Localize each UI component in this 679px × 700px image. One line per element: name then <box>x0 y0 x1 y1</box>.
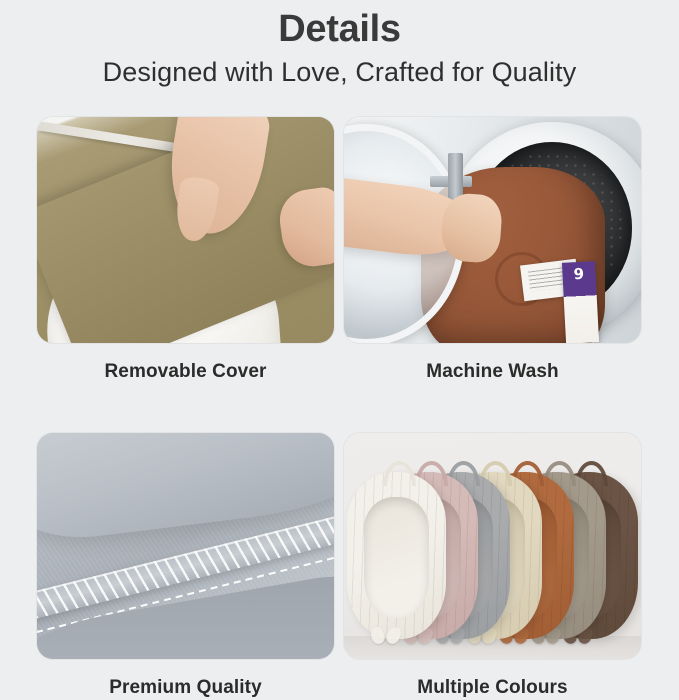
feature-label-premium-quality: Premium Quality <box>37 676 334 700</box>
feature-grid: Removable Cover 9 <box>37 117 641 700</box>
feature-label-multiple-colours: Multiple Colours <box>344 676 641 700</box>
swatch-tie-bow <box>371 624 401 651</box>
page-subtitle: Designed with Love, Crafted for Quality <box>0 54 679 90</box>
feature-card-removable-cover[interactable]: Removable Cover <box>37 117 334 384</box>
colour-swatch-row <box>347 453 638 643</box>
brand-tag: 9 <box>562 261 599 343</box>
feature-label-machine-wash: Machine Wash <box>344 360 641 384</box>
feature-row-2: Premium Quality Multiple Colours <box>37 433 641 700</box>
swatch-carry-handle <box>383 461 417 487</box>
page-header: Details Designed with Love, Crafted for … <box>0 0 679 90</box>
machine-wash-photo: 9 <box>344 117 641 343</box>
feature-card-multiple-colours[interactable]: Multiple Colours <box>344 433 641 700</box>
swatch-inner-mattress <box>364 497 429 617</box>
multiple-colours-photo <box>344 433 641 659</box>
page-title: Details <box>0 6 679 52</box>
brand-tag-glyph: 9 <box>562 264 596 284</box>
removable-cover-photo <box>37 117 334 343</box>
colour-swatch-ivory-white <box>347 472 446 639</box>
feature-label-removable-cover: Removable Cover <box>37 360 334 384</box>
hand-icon <box>440 192 504 264</box>
feature-card-premium-quality[interactable]: Premium Quality <box>37 433 334 700</box>
feature-row-1: Removable Cover 9 <box>37 117 641 384</box>
premium-quality-photo <box>37 433 334 659</box>
feature-card-machine-wash[interactable]: 9 Machine Wash <box>344 117 641 384</box>
